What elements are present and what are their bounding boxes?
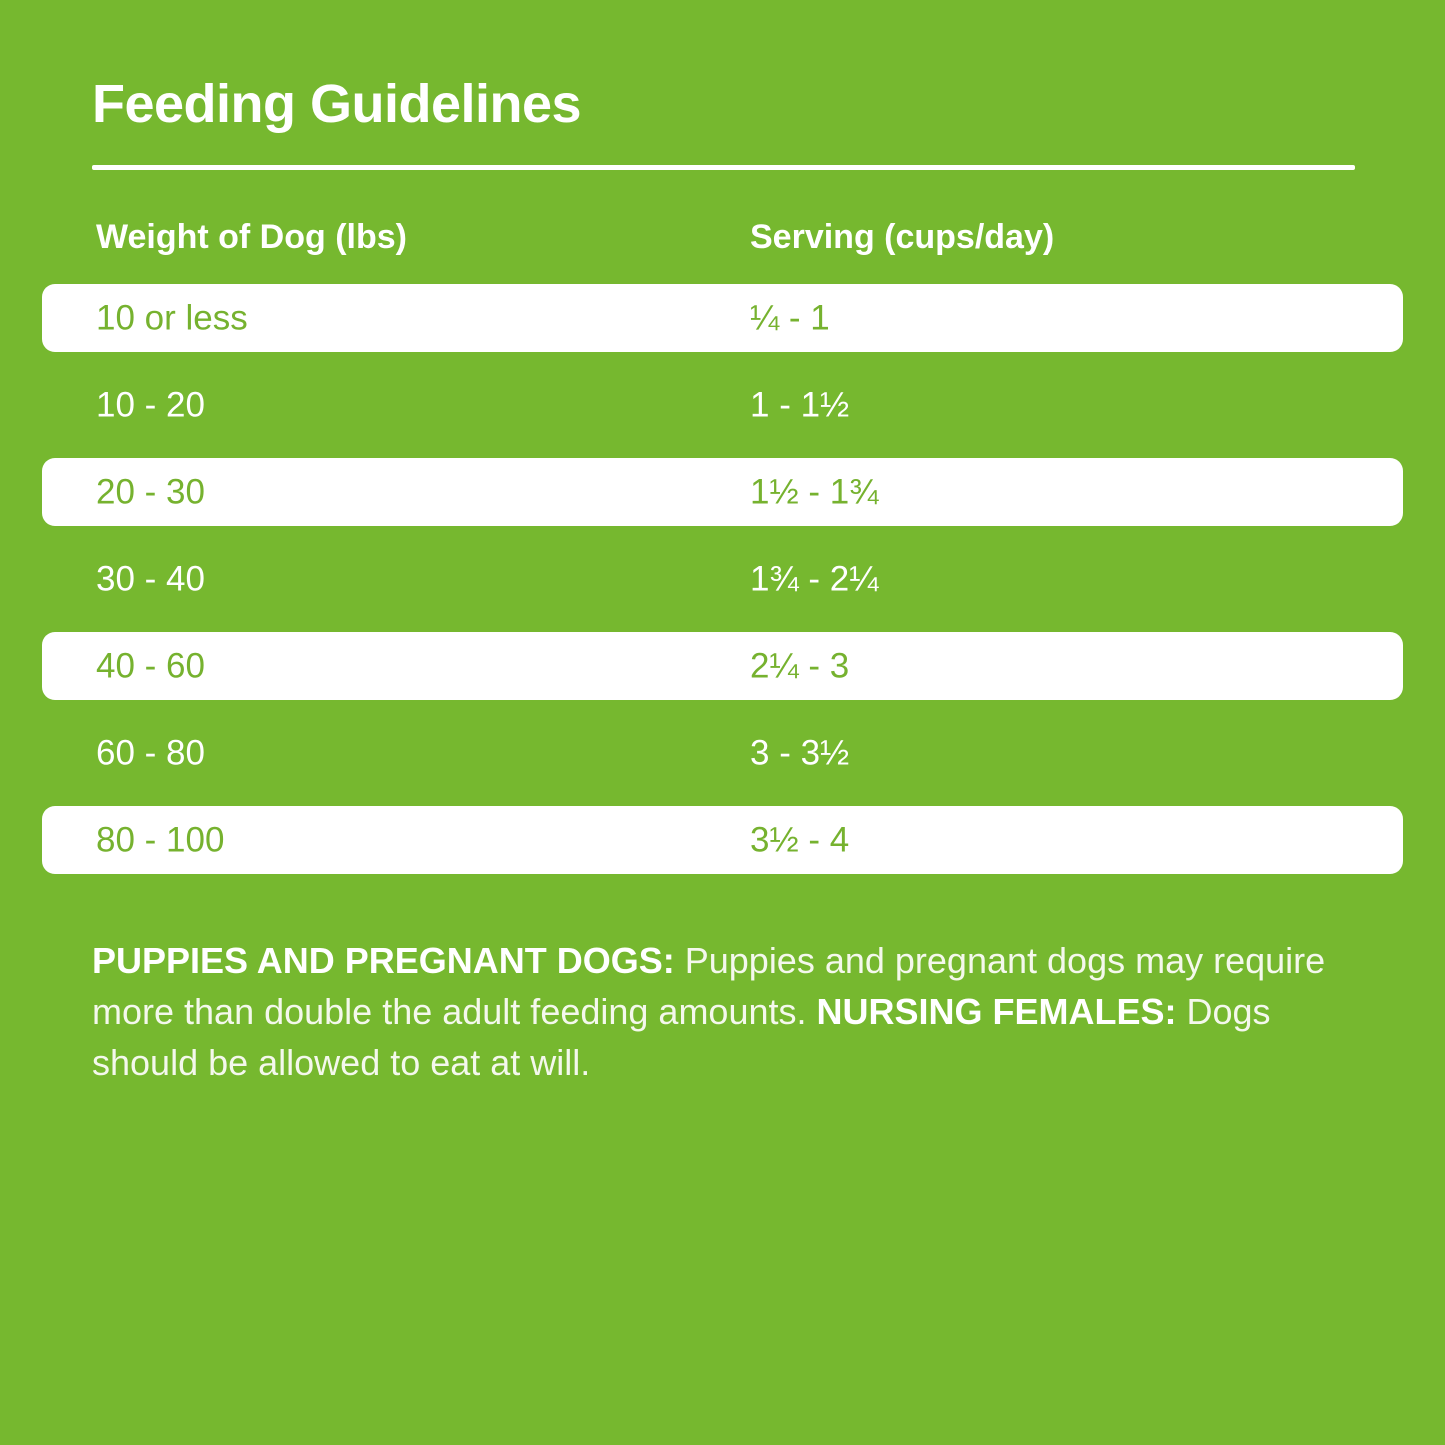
note-label-nursing: NURSING FEMALES:	[817, 991, 1177, 1032]
title-divider	[92, 165, 1355, 170]
row-background	[42, 458, 1403, 526]
row-background	[42, 806, 1403, 874]
cell-serving: 1¾ - 2¼	[750, 562, 878, 597]
table-row: 80 - 100 3½ - 4	[0, 806, 1445, 874]
cell-weight: 40 - 60	[96, 649, 205, 684]
note-label-puppies: PUPPIES AND PREGNANT DOGS:	[92, 940, 675, 981]
cell-serving: 1 - 1½	[750, 388, 849, 423]
row-background	[42, 632, 1403, 700]
feeding-table: Weight of Dog (lbs) Serving (cups/day) 1…	[0, 208, 1445, 893]
row-background	[42, 719, 1403, 787]
cell-serving: 3½ - 4	[750, 823, 849, 858]
cell-serving: 1½ - 1¾	[750, 475, 878, 510]
cell-weight: 10 or less	[96, 301, 248, 336]
column-header-weight: Weight of Dog (lbs)	[96, 218, 407, 257]
table-row: 60 - 80 3 - 3½	[0, 719, 1445, 787]
table-row: 20 - 30 1½ - 1¾	[0, 458, 1445, 526]
table-row: 40 - 60 2¼ - 3	[0, 632, 1445, 700]
column-header-serving: Serving (cups/day)	[750, 218, 1054, 257]
cell-serving: 2¼ - 3	[750, 649, 849, 684]
cell-weight: 20 - 30	[96, 475, 205, 510]
table-header-row: Weight of Dog (lbs) Serving (cups/day)	[0, 208, 1445, 284]
table-row: 10 - 20 1 - 1½	[0, 371, 1445, 439]
table-row: 30 - 40 1¾ - 2¼	[0, 545, 1445, 613]
cell-weight: 10 - 20	[96, 388, 205, 423]
feeding-note: PUPPIES AND PREGNANT DOGS: Puppies and p…	[92, 935, 1362, 1088]
cell-serving: ¼ - 1	[750, 301, 830, 336]
cell-weight: 30 - 40	[96, 562, 205, 597]
row-background	[42, 371, 1403, 439]
row-background	[42, 545, 1403, 613]
cell-serving: 3 - 3½	[750, 736, 849, 771]
feeding-guidelines-panel: Feeding Guidelines Weight of Dog (lbs) S…	[0, 0, 1445, 1445]
table-row: 10 or less ¼ - 1	[0, 284, 1445, 352]
page-title: Feeding Guidelines	[92, 76, 581, 133]
cell-weight: 60 - 80	[96, 736, 205, 771]
cell-weight: 80 - 100	[96, 823, 224, 858]
